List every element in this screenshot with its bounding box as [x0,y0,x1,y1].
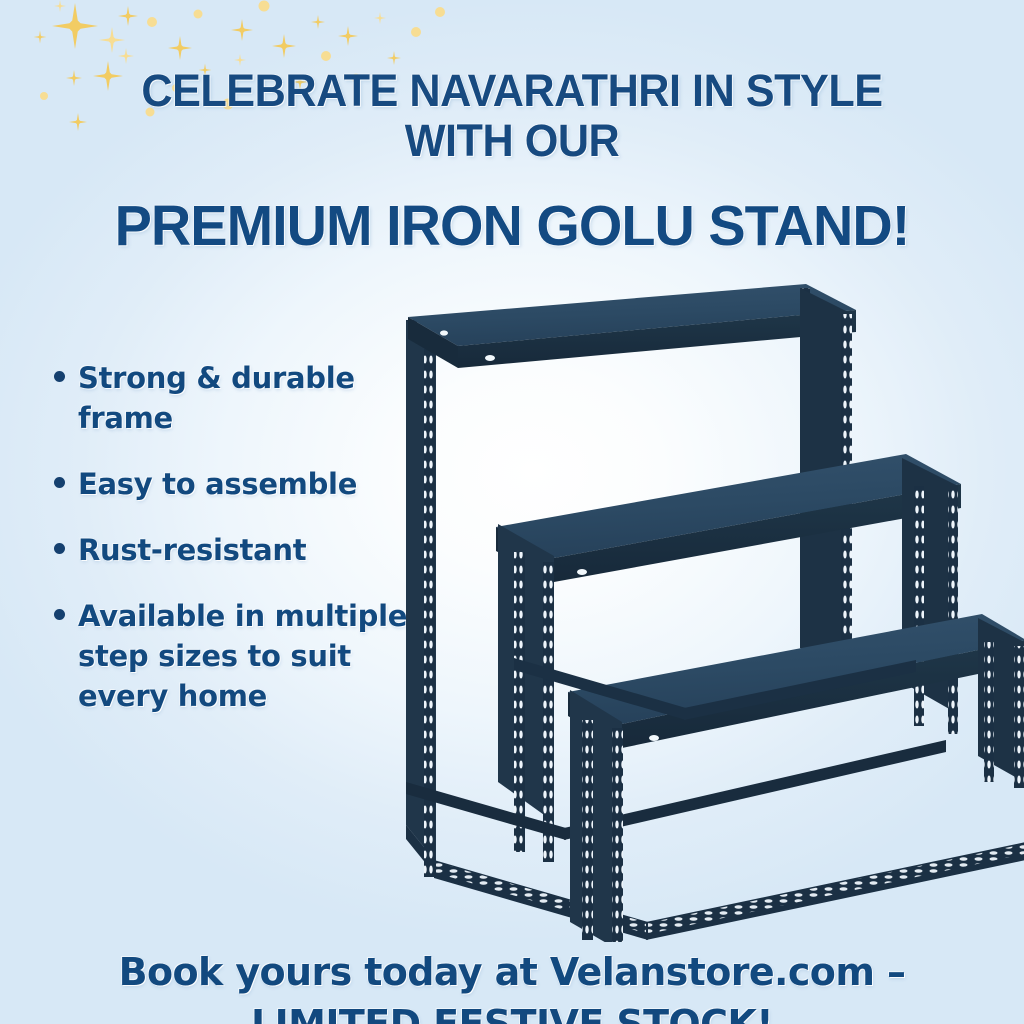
bullet-dot-icon [54,609,65,620]
cta-line-1: Book yours today at Velanstore.com – [0,946,1024,998]
post-tier3-right [978,618,1024,788]
rail-bottom-front-right [646,842,1024,940]
post-tier3-inner-left [570,690,623,942]
cta-block: Book yours today at Velanstore.com – LIM… [0,946,1024,1024]
sparkle-icon [259,1,270,12]
sparkle-icon [272,34,296,58]
feature-label: Easy to assemble [78,464,357,504]
sparkle-icon [34,31,47,44]
bullet-dot-icon [54,543,65,554]
sparkle-icon [374,12,386,24]
list-item: Easy to assemble [48,464,408,504]
post-tier2-right [902,458,958,734]
headline-block: CELEBRATE NAVARATHRI IN STYLE WITH OUR P… [0,66,1024,258]
sparkle-icon [118,6,138,26]
sparkle-icon [147,17,157,27]
headline-line-1: CELEBRATE NAVARATHRI IN STYLE [20,66,1003,116]
list-item: Available in multiple step sizes to suit… [48,596,408,716]
bullet-dot-icon [54,477,65,488]
sparkle-icon [118,48,134,64]
sparkle-icon [231,19,253,41]
golu-stand-illustration [386,262,1024,942]
list-item: Strong & durable frame [48,358,408,438]
feature-label: Available in multiple step sizes to suit… [78,596,408,716]
shelf-tier-1 [408,284,856,368]
sparkle-icon [52,3,98,49]
feature-label: Strong & durable frame [78,358,408,438]
sparkle-icon [411,27,421,37]
sparkle-icon [194,10,203,19]
sparkle-icon [321,51,331,61]
shelf-tier-2 [496,454,961,582]
bullet-dot-icon [54,371,65,382]
sparkle-icon [338,26,358,46]
post-front-left-lower [424,822,435,877]
sparkle-icon [99,27,125,53]
feature-list: Strong & durable frame Easy to assemble … [48,358,408,742]
list-item: Rust-resistant [48,530,408,570]
promo-poster: CELEBRATE NAVARATHRI IN STYLE WITH OUR P… [0,0,1024,1024]
sparkle-icon [435,7,445,17]
post-front-left [406,320,436,862]
sparkle-icon [387,51,401,65]
cta-line-2: LIMITED FESTIVE STOCK! [0,998,1024,1024]
sparkle-icon [311,15,325,29]
feature-label: Rust-resistant [78,530,306,570]
headline-line-2: WITH OUR [20,116,1003,166]
sparkle-icon [168,36,192,60]
product-image-golu-stand [386,262,1024,942]
headline-line-3: PREMIUM IRON GOLU STAND! [10,194,1014,258]
sparkle-icon [54,0,66,12]
